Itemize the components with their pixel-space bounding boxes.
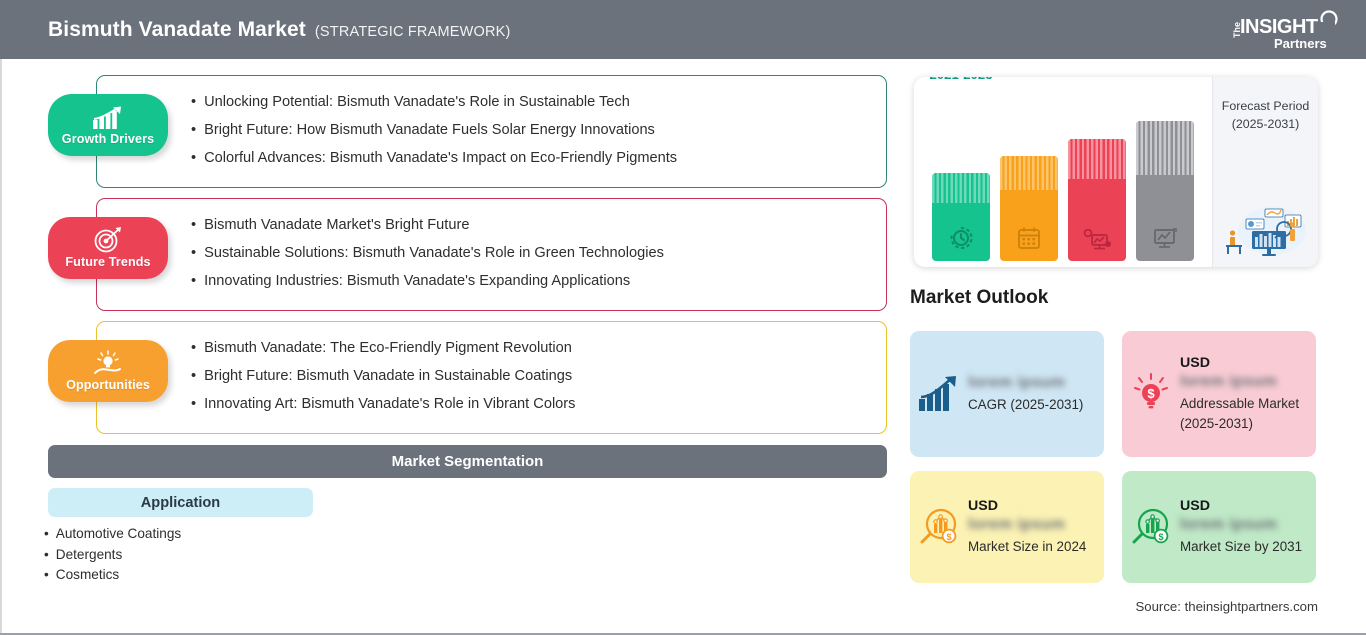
right-column: 2021-2023 HistoricalYears 2024 [900,59,1366,635]
lightbulb-dollar-icon: $ [1122,372,1180,416]
outlook-card-caption: CAGR (2025-2031) [968,395,1096,415]
magnifier-chart-dollar-icon: $ [1122,505,1180,549]
target-dart-icon [93,227,123,253]
source-attribution: Source: theinsightpartners.com [1135,599,1318,614]
badge-label: Growth Drivers [62,132,154,146]
forecast-period-title: Forecast Period [1213,77,1318,114]
bullet-item: Bismuth Vanadate Market's Bright Future [191,211,886,239]
outlook-card-value: lorem ipsum [1180,373,1277,391]
outlook-card-body: USD lorem ipsum Addressable Market (2025… [1180,355,1316,434]
bullet-list-growth-drivers: Unlocking Potential: Bismuth Vanadate's … [97,76,886,172]
badge-opportunities[interactable]: Opportunities [48,340,168,402]
page-subtitle: (STRATEGIC FRAMEWORK) [315,24,511,40]
badge-future-trends[interactable]: Future Trends [48,217,168,279]
list-item: Cosmetics [44,565,424,586]
panel-growth-drivers: Unlocking Potential: Bismuth Vanadate's … [96,75,887,188]
bullet-item: Innovating Industries: Bismuth Vanadate'… [191,267,886,295]
list-item: Detergents [44,545,424,566]
outlook-card-body: USD lorem ipsum Market Size in 2024 [968,498,1104,557]
outlook-card-value: lorem ipsum [968,374,1065,392]
study-period-timeline-chart: 2021-2023 HistoricalYears 2024 [914,77,1318,267]
svg-text:Partners: Partners [1274,36,1327,51]
page-title: Bismuth Vanadate Market [48,18,306,42]
forecast-period-years: (2025-2031) [1213,117,1318,132]
segmentation-chip-application[interactable]: Application [48,488,313,517]
bullet-item: Bright Future: How Bismuth Vanadate Fuel… [191,116,886,144]
outlook-card-currency: USD [968,498,1096,514]
page-header: Bismuth Vanadate Market (STRATEGIC FRAME… [0,0,1366,59]
infographic-page: Bismuth Vanadate Market (STRATEGIC FRAME… [0,0,1366,635]
history-clock-icon [948,225,974,251]
calendar-icon [1016,225,1042,251]
market-outlook-title: Market Outlook [910,287,1048,309]
outlook-card-cagr[interactable]: lorem ipsum CAGR (2025-2031) [910,331,1104,457]
svg-text:INSIGHT: INSIGHT [1240,16,1318,38]
outlook-card-caption: Addressable Market (2025-2031) [1180,394,1308,434]
bar-chart-arrow-icon [910,375,968,413]
outlook-card-currency: USD [1180,355,1308,371]
panel-future-trends: Bismuth Vanadate Market's Bright Future … [96,198,887,311]
bar-historical-years: 2021-2023 HistoricalYears [932,173,990,261]
badge-growth-drivers[interactable]: Growth Drivers [48,94,168,156]
header-title-group: Bismuth Vanadate Market (STRATEGIC FRAME… [48,18,511,42]
bullet-item: Bright Future: Bismuth Vanadate in Susta… [191,362,886,390]
bullet-list-opportunities: Bismuth Vanadate: The Eco-Friendly Pigme… [97,322,886,418]
market-segmentation-title: Market Segmentation [392,453,544,470]
segmentation-item-list: Automotive Coatings Detergents Cosmetics [44,524,424,586]
svg-text:$: $ [1147,386,1155,401]
analytics-dashboard-illustration [1220,203,1312,259]
timeline-bars: 2021-2023 HistoricalYears 2024 [914,77,1212,267]
market-segmentation-bar: Market Segmentation [48,445,887,478]
bar-year-label: 2021-2023 [929,77,992,82]
list-item: Automotive Coatings [44,524,424,545]
bar-projected-year: 2031 ProjectedYear [1136,121,1194,261]
bullet-item: Sustainable Solutions: Bismuth Vanadate'… [191,239,886,267]
outlook-card-body: USD lorem ipsum Market Size by 2031 [1180,498,1316,557]
projection-screen-icon [1151,227,1179,251]
magnifier-chart-dollar-icon: $ [910,505,968,549]
outlook-card-market-size-2031[interactable]: $ USD lorem ipsum Market Size by 2031 [1122,471,1316,583]
bullet-item: Innovating Art: Bismuth Vanadate's Role … [191,390,886,418]
outlook-card-body: lorem ipsum CAGR (2025-2031) [968,374,1104,415]
bar-estimated-year: 2025 EstimatedYear [1068,139,1126,261]
outlook-card-caption: Market Size by 2031 [1180,537,1308,557]
outlook-card-market-size-2024[interactable]: $ USD lorem ipsum Market Size in 2024 [910,471,1104,583]
badge-label: Future Trends [65,255,150,269]
segmentation-chip-label: Application [141,495,220,511]
svg-text:$: $ [946,532,951,542]
lightbulb-hand-icon [92,350,124,376]
bullet-list-future-trends: Bismuth Vanadate Market's Bright Future … [97,199,886,295]
insight-partners-logo: The INSIGHT Partners [1226,8,1344,52]
bullet-item: Bismuth Vanadate: The Eco-Friendly Pigme… [191,334,886,362]
outlook-card-caption: Market Size in 2024 [968,537,1096,557]
svg-text:$: $ [1158,532,1163,542]
outlook-card-currency: USD [1180,498,1308,514]
bar-base-year: 2024 BaseYear [1000,156,1058,261]
forecast-gear-icon [1082,227,1112,251]
bar-chart-arrow-icon [91,104,125,130]
outlook-card-value: lorem ipsum [968,516,1065,534]
bullet-item: Colorful Advances: Bismuth Vanadate's Im… [191,144,886,172]
outlook-card-value: lorem ipsum [1180,516,1277,534]
outlook-card-addressable-market[interactable]: $ USD lorem ipsum Addressable Market (20… [1122,331,1316,457]
forecast-period-pane: Forecast Period (2025-2031) [1212,77,1318,267]
panel-opportunities: Bismuth Vanadate: The Eco-Friendly Pigme… [96,321,887,434]
left-column: Unlocking Potential: Bismuth Vanadate's … [0,59,900,635]
bullet-item: Unlocking Potential: Bismuth Vanadate's … [191,88,886,116]
badge-label: Opportunities [66,378,150,392]
